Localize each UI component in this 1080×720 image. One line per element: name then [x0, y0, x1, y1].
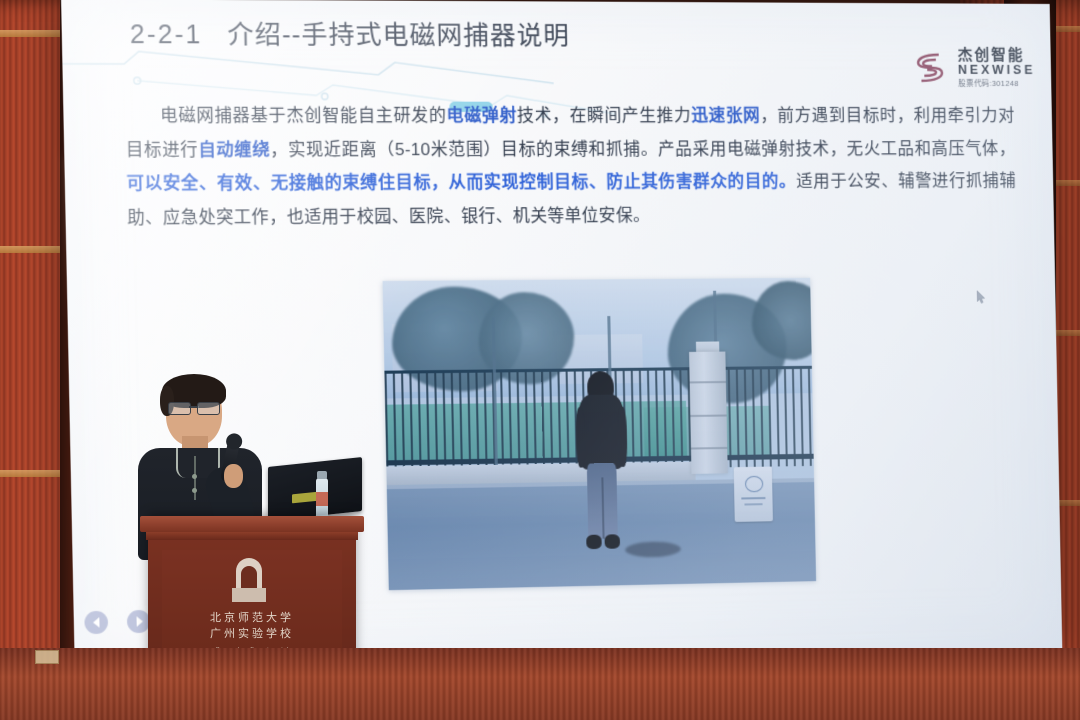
- slide-title: 2-2-1 介绍--手持式电磁网捕器说明: [130, 14, 571, 53]
- podium-school-cn-line2: 广州实验学校: [148, 626, 356, 642]
- logo-text-block: 杰创智能 NEXWISE 股票代码:301248: [958, 48, 1036, 88]
- body-highlight-1: 电磁弹射: [446, 107, 517, 126]
- photo-projector-color-cast: [383, 278, 817, 590]
- body-seg-4: ，实现近距离（5-10米范围）目标的束缚和抓捕。产品采用电磁弹射技术，无火工品和…: [270, 140, 1015, 160]
- chevron-right-icon: [134, 616, 144, 627]
- nexwise-mark-icon: [909, 48, 949, 88]
- company-logo: 杰创智能 NEXWISE 股票代码:301248: [909, 48, 1035, 88]
- logo-company-cn: 杰创智能: [958, 48, 1036, 64]
- body-highlight-3: 自动缠绕: [198, 140, 270, 159]
- podium-lip: [146, 532, 358, 540]
- slide-title-number: 2-2-1: [130, 20, 203, 49]
- floor-wall-band: [0, 648, 1080, 720]
- presenter-hand: [224, 464, 243, 488]
- logo-company-en: NEXWISE: [958, 64, 1035, 78]
- presenter-glasses-icon: [168, 402, 220, 413]
- logo-stock-code: 股票代码:301248: [958, 80, 1035, 88]
- presentation-scene: 2-2-1 介绍--手持式电磁网捕器说明 杰创智能 NEXWI: [0, 0, 1080, 720]
- laptop: [268, 457, 362, 521]
- podium-school-name-cn: 北京师范大学 广州实验学校: [148, 610, 356, 642]
- presenter-shirt-button-2: [192, 488, 197, 493]
- previous-slide-button[interactable]: [84, 611, 108, 634]
- chevron-left-icon: [91, 617, 101, 628]
- body-seg-1: 电磁网捕器基于杰创智能自主研发的: [160, 107, 447, 126]
- slide-title-text: 介绍--手持式电磁网捕器说明: [227, 21, 570, 51]
- slide-photo: [383, 278, 817, 590]
- body-highlight-4: 可以安全、有效、无接触的束缚住目标，从而实现控制目标、防止其伤害群众的目的。: [126, 173, 796, 194]
- bottle-cap: [317, 471, 327, 479]
- water-bottle: [316, 478, 328, 520]
- mouse-cursor: [977, 291, 986, 304]
- body-seg-2: 技术，在瞬间产生推力: [517, 107, 692, 125]
- wall-outlet-plate: [35, 650, 59, 664]
- slide-body-text: 电磁网捕器基于杰创智能自主研发的电磁弹射技术，在瞬间产生推力迅速张网，前方遇到目…: [125, 99, 1017, 235]
- bottle-label: [316, 492, 328, 506]
- slide-navigation-controls[interactable]: [84, 610, 150, 634]
- presenter-shirt-button-1: [192, 474, 197, 479]
- podium-school-cn-line1: 北京师范大学: [148, 610, 356, 626]
- school-crest-icon: [232, 558, 266, 604]
- body-highlight-2: 迅速张网: [691, 107, 760, 125]
- podium-top-surface: [140, 516, 364, 532]
